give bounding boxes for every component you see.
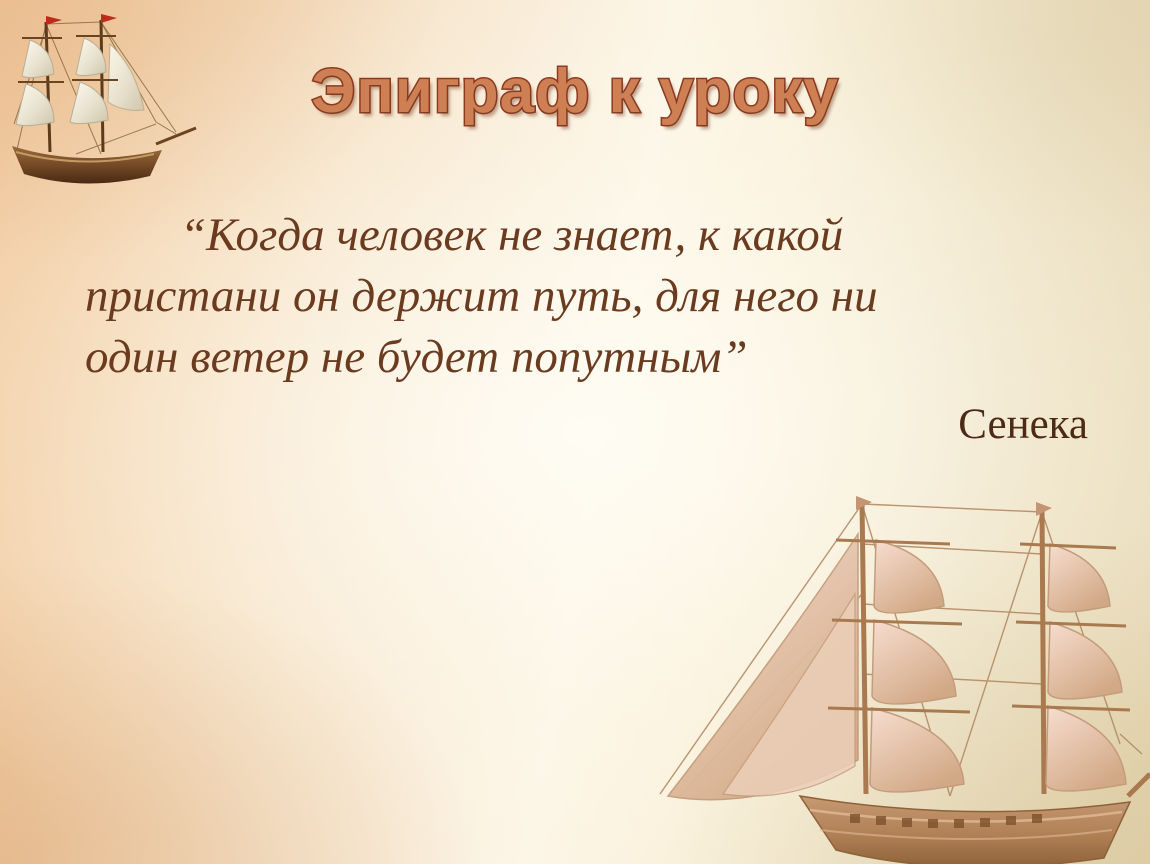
quote-line-1: “Когда человек не знает, к какой <box>85 205 1065 266</box>
quote-line-2: пристани он держит путь, для него ни <box>85 266 1065 327</box>
page-title: Эпиграф к уроку <box>0 56 1150 127</box>
epigraph-quote: “Когда человек не знает, к какой пристан… <box>85 205 1065 388</box>
sailing-ship-illustration <box>650 444 1150 864</box>
quote-author: Сенека <box>958 400 1088 449</box>
quote-line-3: один ветер не будет попутным” <box>85 327 1065 388</box>
slide-canvas: Эпиграф к уроку “Когда человек не знает,… <box>0 0 1150 864</box>
